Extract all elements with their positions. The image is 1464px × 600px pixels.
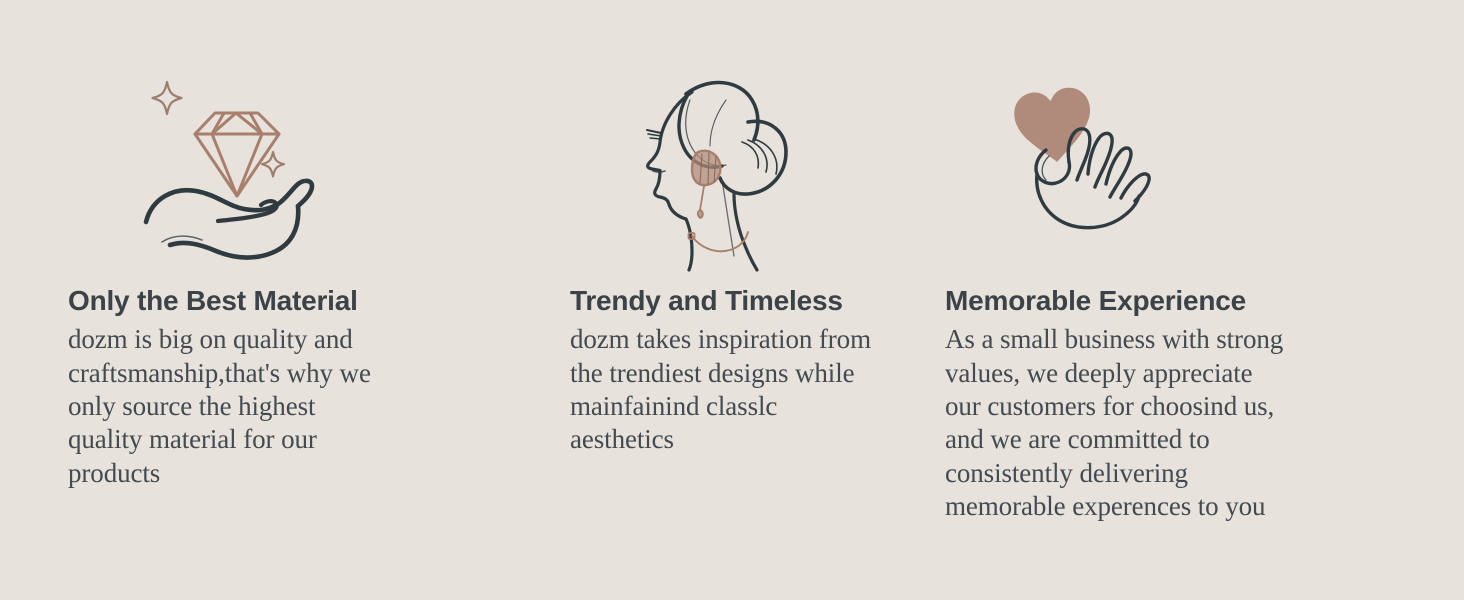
feature-body-line: craftsmanship,that's why we bbox=[68, 357, 468, 390]
feature-body-line: quality material for our bbox=[68, 423, 468, 456]
necklace-icon bbox=[689, 232, 749, 251]
feature-column-trendy: Trendy and Timeless dozm takes inspirati… bbox=[485, 0, 915, 600]
heart-icon bbox=[1011, 85, 1096, 167]
feature-body-line: aesthetics bbox=[570, 423, 960, 456]
earring-icon bbox=[692, 151, 720, 218]
feature-body-line: values, we deeply appreciate bbox=[945, 357, 1370, 390]
feature-body-line: products bbox=[68, 457, 468, 490]
feature-column-experience: Memorable Experience As a small business… bbox=[915, 0, 1464, 600]
feature-body-line: mainfainind classlc bbox=[570, 390, 960, 423]
feature-banner: Only the Best Material dozm is big on qu… bbox=[0, 0, 1464, 600]
woman-profile-earring-icon bbox=[630, 70, 810, 270]
feature-body-line: memorable experences to you bbox=[945, 490, 1370, 523]
hand-holding-heart-icon bbox=[1005, 70, 1190, 270]
palm-crease-line bbox=[1042, 156, 1049, 180]
feature-body-line: consistently delivering bbox=[945, 457, 1370, 490]
feature-body-line: the trendiest designs while bbox=[570, 357, 960, 390]
features-row: Only the Best Material dozm is big on qu… bbox=[0, 0, 1464, 600]
feature-body: As a small business with strong values, … bbox=[945, 323, 1370, 523]
feature-body-line: only source the highest bbox=[68, 390, 468, 423]
feature-title: Trendy and Timeless bbox=[570, 286, 843, 315]
feature-column-material: Only the Best Material dozm is big on qu… bbox=[0, 0, 485, 600]
feature-body-line: and we are committed to bbox=[945, 423, 1370, 456]
diamond-icon bbox=[195, 113, 279, 196]
feature-body: dozm is big on quality and craftsmanship… bbox=[68, 323, 468, 490]
feature-body-line: dozm is big on quality and bbox=[68, 323, 468, 356]
feature-body-line: dozm takes inspiration from bbox=[570, 323, 960, 356]
feature-title: Only the Best Material bbox=[68, 286, 358, 315]
feature-title: Memorable Experience bbox=[945, 286, 1246, 315]
sparkle-icon bbox=[153, 82, 182, 114]
diamond-in-hand-icon bbox=[140, 70, 340, 270]
feature-body-line: As a small business with strong bbox=[945, 323, 1370, 356]
feature-body-line: our customers for choosind us, bbox=[945, 390, 1370, 423]
open-hand-icon bbox=[146, 181, 312, 258]
feature-body: dozm takes inspiration from the trendies… bbox=[570, 323, 960, 456]
